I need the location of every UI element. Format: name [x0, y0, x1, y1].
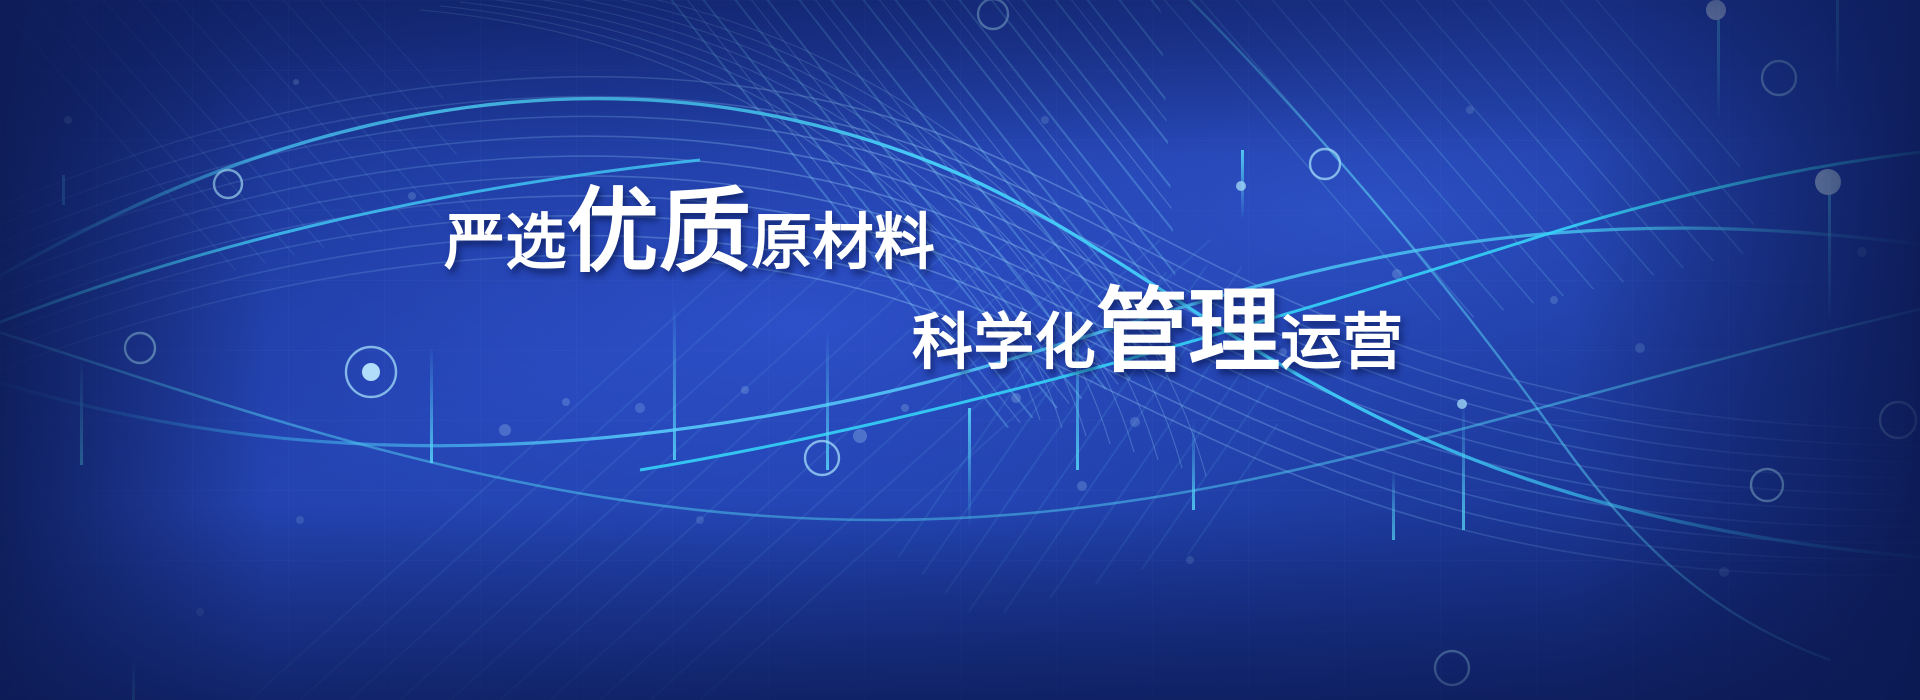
decorative-markers-layer: [0, 0, 1920, 700]
banner-root: 严选 优质 原材料 科学化 管理 运营: [0, 0, 1920, 700]
